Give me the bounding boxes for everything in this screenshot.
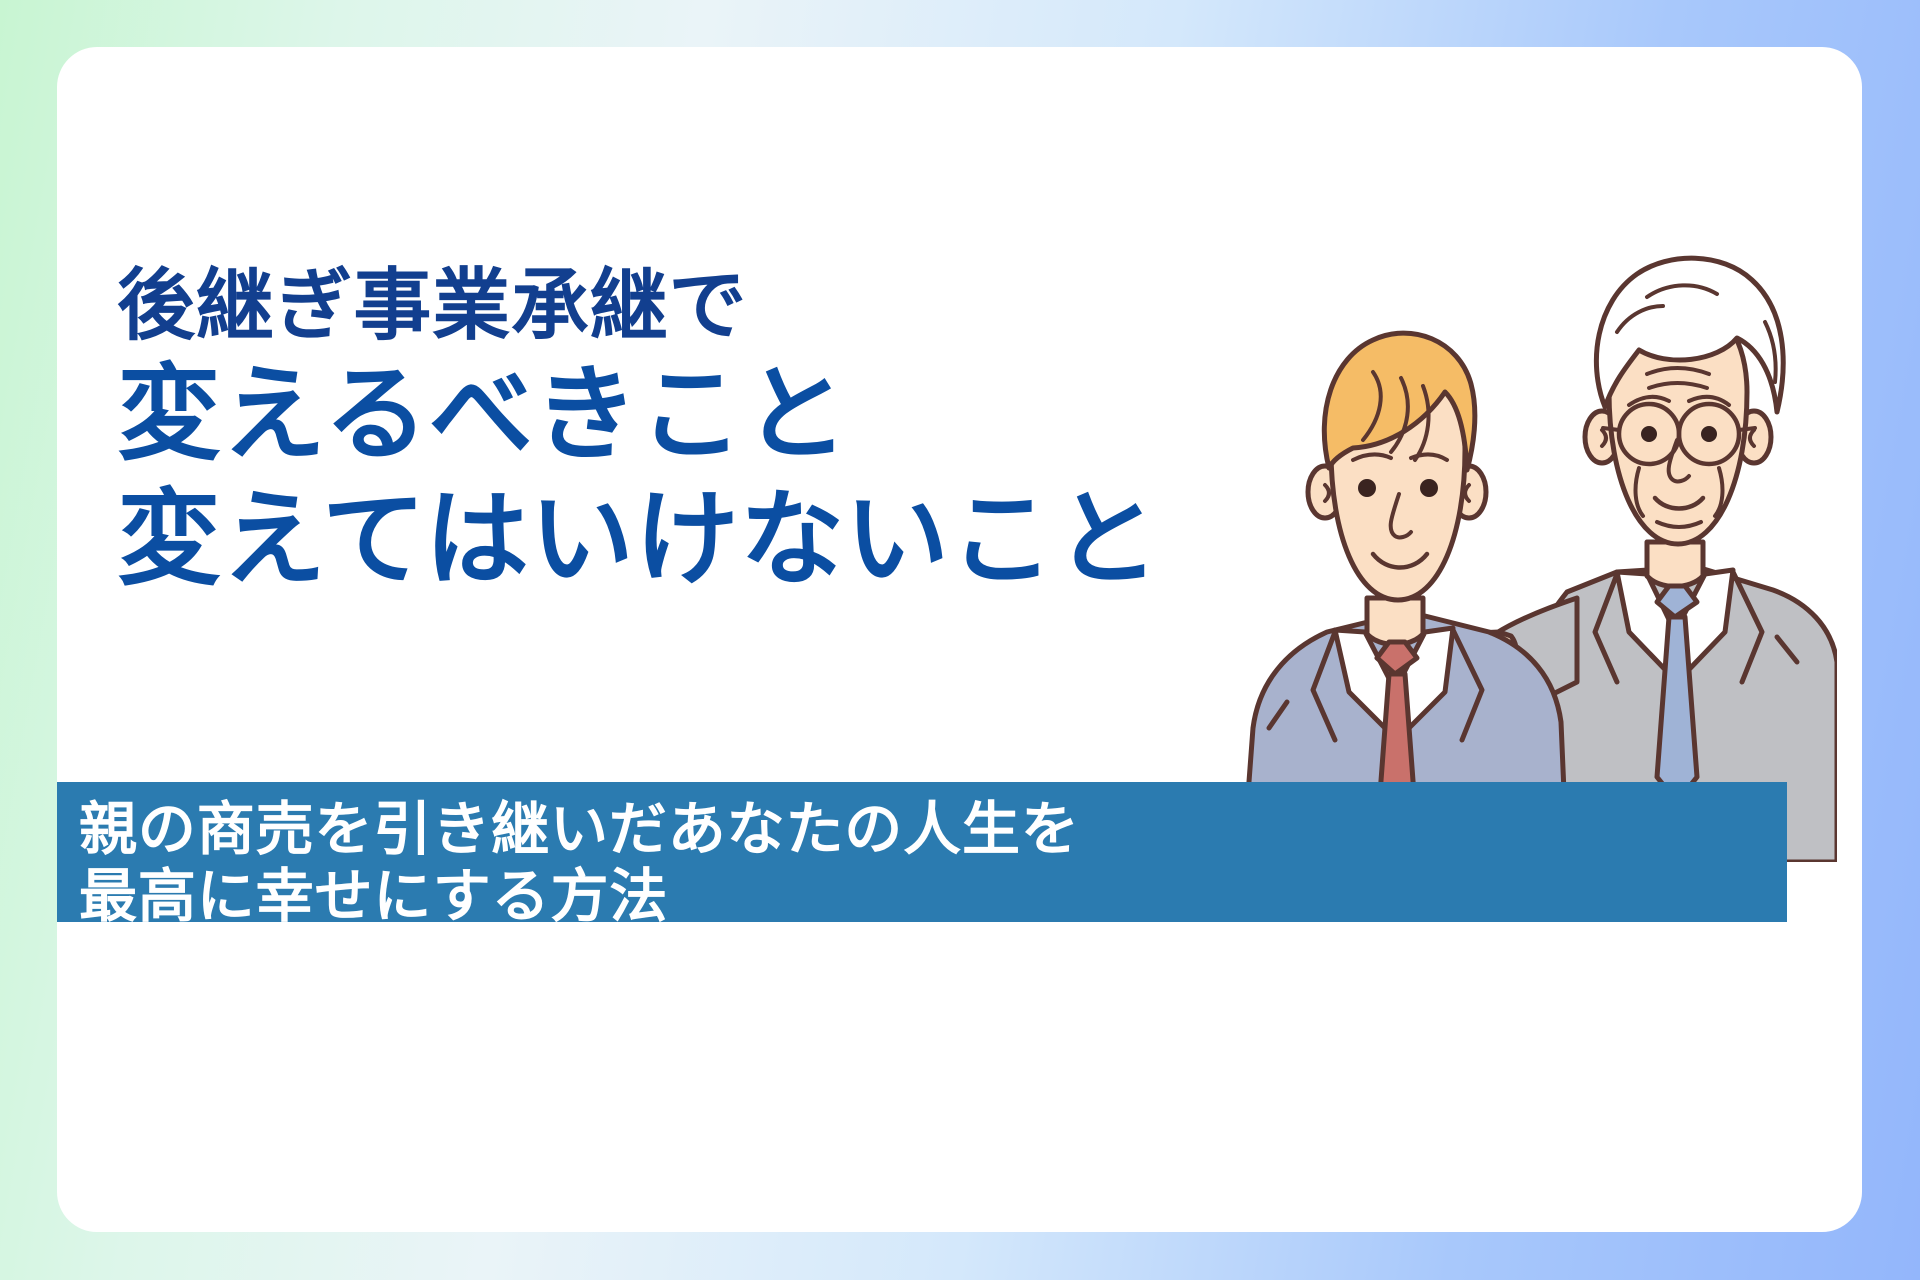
- old-man-head: [1585, 258, 1783, 544]
- title-line-3: 変えてはいけないこと: [117, 478, 1317, 603]
- title-block: 後継ぎ事業承継で 変えるべきこと 変えてはいけないこと: [117, 257, 1317, 603]
- young-man-head: [1308, 333, 1486, 600]
- title-line-3-outlined: こと: [950, 482, 1160, 598]
- title-line-1: 後継ぎ事業承継で: [117, 257, 1317, 353]
- title-line-3-main: 変えてはいけない: [117, 482, 950, 598]
- subtitle-line-1: 親の商売を引き継いだあなたの人生を: [79, 796, 1787, 863]
- title-line-2: 変えるべきこと: [117, 353, 1317, 478]
- old-man-arm: [1439, 598, 1577, 704]
- main-card: 後継ぎ事業承継で 変えるべきこと 変えてはいけないこと 親の商売を引き継いだあな…: [57, 47, 1862, 1232]
- subtitle-line-2: 最高に幸せにする方法: [79, 863, 1787, 930]
- subtitle-bar: 親の商売を引き継いだあなたの人生を 最高に幸せにする方法: [57, 782, 1787, 922]
